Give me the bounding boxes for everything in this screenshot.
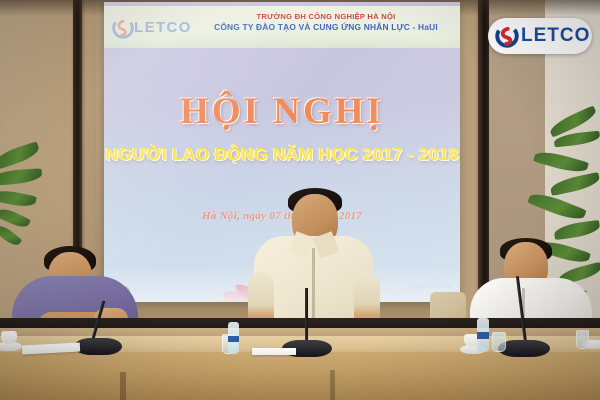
microphone-base-left	[74, 338, 122, 355]
letco-swirl-logo-icon	[494, 23, 520, 49]
table-panel-seam-left	[120, 372, 126, 400]
water-bottle-label-centre	[228, 336, 239, 342]
watermark-brand-text: LETCO	[521, 25, 590, 47]
teacup-left	[1, 331, 17, 344]
table-front-panel	[0, 352, 600, 400]
conference-photo: LETCO TRƯỜNG ĐH CÔNG NGHIỆP HÀ NỘI CÔNG …	[0, 0, 600, 400]
letco-watermark: LETCO	[488, 18, 592, 54]
plant-left	[0, 140, 54, 250]
water-glass-right	[492, 332, 506, 352]
water-bottle-label-right	[477, 332, 489, 339]
papers-centre	[252, 348, 296, 355]
water-glass-far-right	[576, 330, 589, 349]
microphone-stem-centre	[305, 288, 308, 346]
table-panel-seam-right	[330, 370, 335, 400]
